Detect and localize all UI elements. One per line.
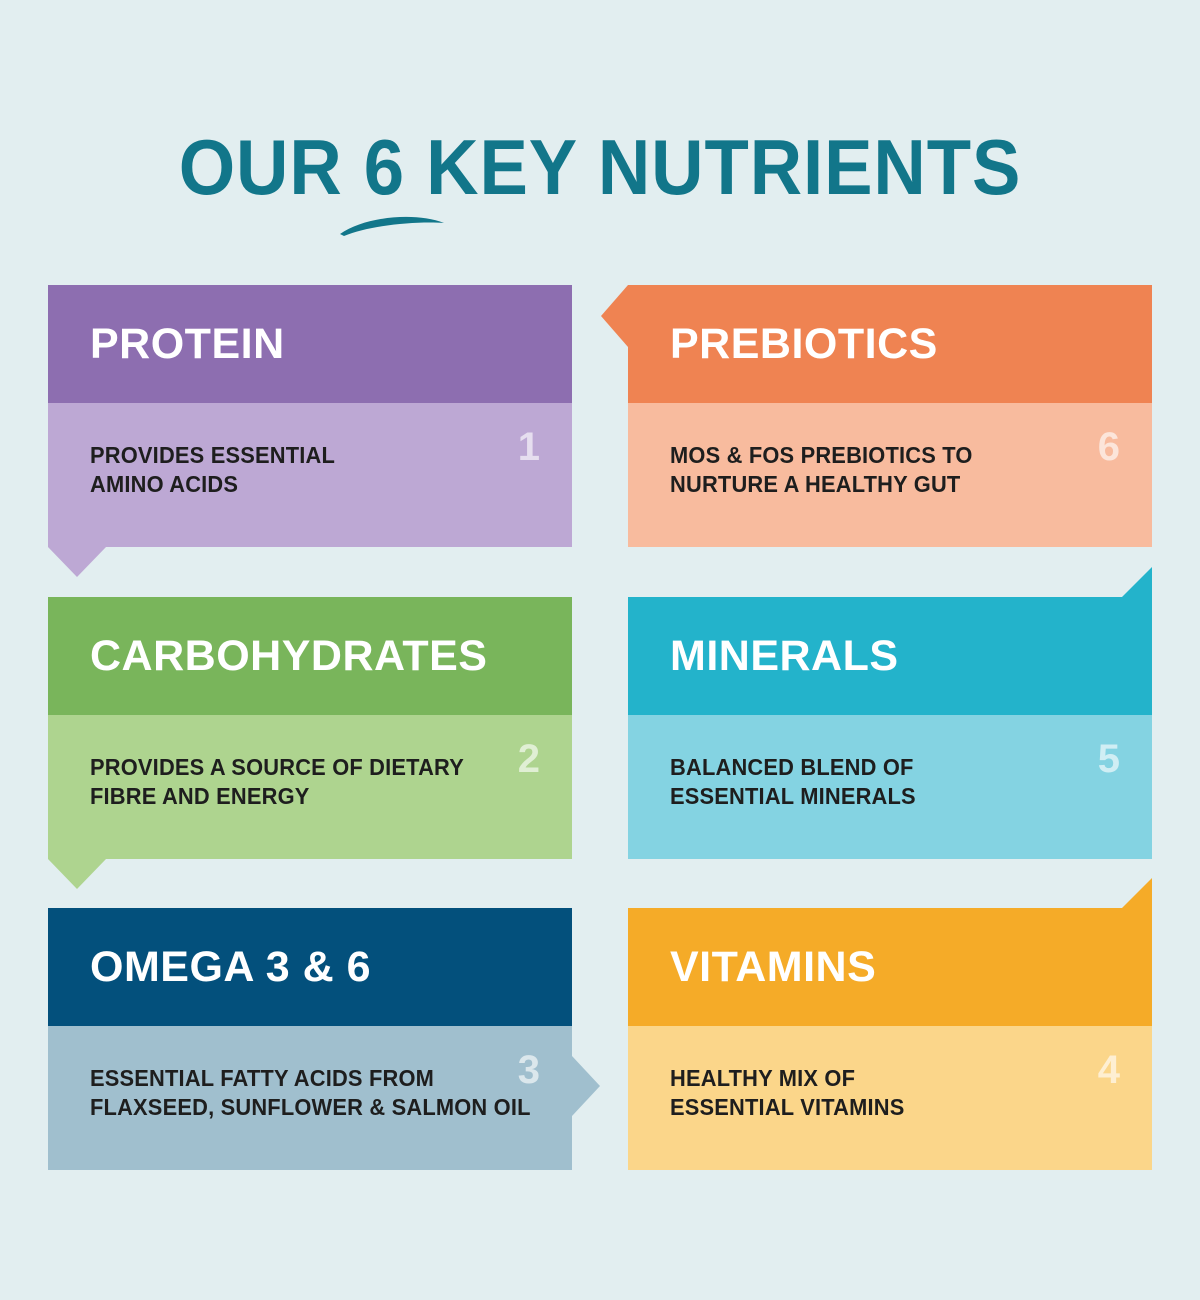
- nutrients-infographic: OUR 6 KEY NUTRIENTS PROTEINPROVIDES ESSE…: [0, 0, 1200, 1300]
- card-description-prebiotics: MOS & FOS PREBIOTICS TO NURTURE A HEALTH…: [670, 441, 1128, 499]
- pointer-up-minerals: [1122, 567, 1152, 597]
- pointer-down-protein: [48, 547, 106, 577]
- card-protein[interactable]: PROTEINPROVIDES ESSENTIAL AMINO ACIDS1: [48, 285, 572, 547]
- card-header-omega-3-and-6: OMEGA 3 & 6: [48, 908, 572, 1026]
- card-header-carbohydrates: CARBOHYDRATES: [48, 597, 572, 715]
- card-number-prebiotics: 6: [1098, 427, 1120, 467]
- card-omega-3-and-6[interactable]: OMEGA 3 & 6ESSENTIAL FATTY ACIDS FROM FL…: [48, 908, 572, 1170]
- card-title-prebiotics: PREBIOTICS: [670, 321, 938, 367]
- card-body-omega-3-and-6: ESSENTIAL FATTY ACIDS FROM FLAXSEED, SUN…: [48, 1026, 572, 1170]
- card-description-protein: PROVIDES ESSENTIAL AMINO ACIDS: [90, 441, 548, 499]
- card-body-prebiotics: MOS & FOS PREBIOTICS TO NURTURE A HEALTH…: [628, 403, 1152, 547]
- card-body-carbohydrates: PROVIDES A SOURCE OF DIETARY FIBRE AND E…: [48, 715, 572, 859]
- card-number-vitamins: 4: [1098, 1050, 1120, 1090]
- card-description-vitamins: HEALTHY MIX OF ESSENTIAL VITAMINS: [670, 1064, 1128, 1122]
- card-description-carbohydrates: PROVIDES A SOURCE OF DIETARY FIBRE AND E…: [90, 753, 548, 811]
- card-body-protein: PROVIDES ESSENTIAL AMINO ACIDS1: [48, 403, 572, 547]
- pointer-up-vitamins: [1122, 878, 1152, 908]
- card-body-minerals: BALANCED BLEND OF ESSENTIAL MINERALS5: [628, 715, 1152, 859]
- card-number-minerals: 5: [1098, 739, 1120, 779]
- card-title-carbohydrates: CARBOHYDRATES: [90, 633, 488, 679]
- card-header-prebiotics: PREBIOTICS: [628, 285, 1152, 403]
- card-prebiotics[interactable]: PREBIOTICSMOS & FOS PREBIOTICS TO NURTUR…: [628, 285, 1152, 547]
- card-body-vitamins: HEALTHY MIX OF ESSENTIAL VITAMINS4: [628, 1026, 1152, 1170]
- pointer-left-prebiotics: [601, 285, 628, 347]
- card-title-omega-3-and-6: OMEGA 3 & 6: [90, 944, 371, 990]
- card-title-minerals: MINERALS: [670, 633, 899, 679]
- card-header-vitamins: VITAMINS: [628, 908, 1152, 1026]
- card-title-vitamins: VITAMINS: [670, 944, 876, 990]
- card-number-protein: 1: [518, 427, 540, 467]
- card-header-minerals: MINERALS: [628, 597, 1152, 715]
- card-description-minerals: BALANCED BLEND OF ESSENTIAL MINERALS: [670, 753, 1128, 811]
- pointer-down-carbohydrates: [48, 859, 106, 889]
- card-number-carbohydrates: 2: [518, 739, 540, 779]
- card-header-protein: PROTEIN: [48, 285, 572, 403]
- pointer-right-omega-3-and-6: [572, 1056, 600, 1116]
- card-vitamins[interactable]: VITAMINSHEALTHY MIX OF ESSENTIAL VITAMIN…: [628, 908, 1152, 1170]
- card-number-omega-3-and-6: 3: [518, 1050, 540, 1090]
- cards-grid: PROTEINPROVIDES ESSENTIAL AMINO ACIDS1PR…: [0, 0, 1200, 1300]
- card-carbohydrates[interactable]: CARBOHYDRATESPROVIDES A SOURCE OF DIETAR…: [48, 597, 572, 859]
- card-description-omega-3-and-6: ESSENTIAL FATTY ACIDS FROM FLAXSEED, SUN…: [90, 1064, 548, 1122]
- card-title-protein: PROTEIN: [90, 321, 285, 367]
- card-minerals[interactable]: MINERALSBALANCED BLEND OF ESSENTIAL MINE…: [628, 597, 1152, 859]
